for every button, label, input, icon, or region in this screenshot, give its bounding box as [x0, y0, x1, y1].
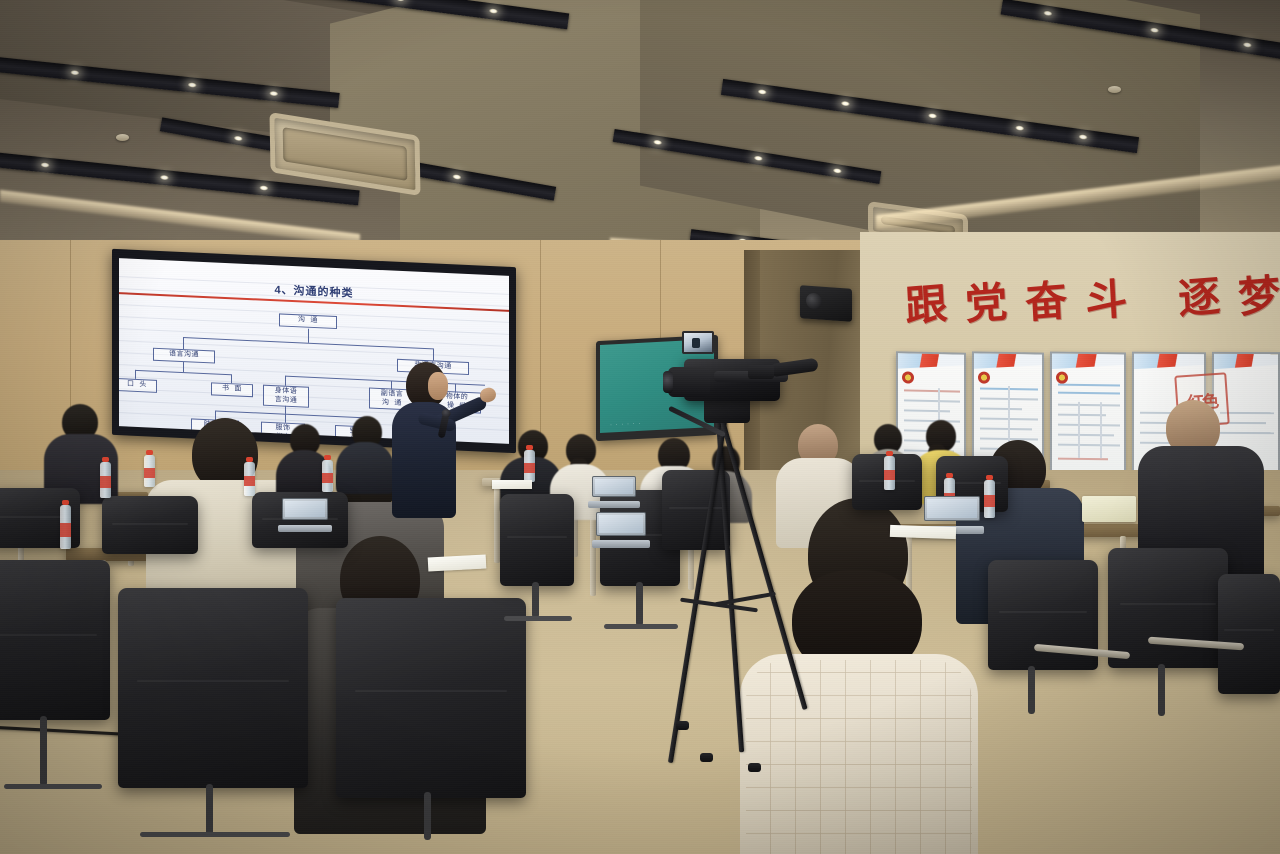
- chair[interactable]: [1108, 548, 1228, 668]
- slide-node-verbal: 语言沟通: [153, 348, 215, 363]
- camcorder-body: [684, 359, 780, 401]
- slide-node-oral: 口 头: [119, 378, 157, 392]
- slide-node-bodylang: 身体语 言沟通: [263, 385, 309, 408]
- water-bottle: [322, 460, 333, 492]
- water-bottle: [984, 480, 995, 518]
- water-bottle: [244, 462, 255, 496]
- camera-live-feed: [684, 333, 712, 352]
- presenter: [384, 362, 470, 518]
- chair[interactable]: [500, 494, 574, 586]
- calligraphy-char: 斗: [1083, 265, 1128, 329]
- tissue-box: [1082, 496, 1136, 522]
- calligraphy-char: 逐: [1176, 262, 1221, 326]
- tripod-spreader: [714, 592, 776, 607]
- water-bottle: [144, 455, 155, 487]
- ceiling: [0, 0, 1280, 268]
- slide-node-written: 书 面: [211, 382, 253, 396]
- calligraphy-char: 党: [963, 268, 1008, 332]
- papers: [890, 525, 956, 539]
- slide-node-root: 沟 通: [279, 313, 337, 328]
- chair-stem: [532, 582, 539, 618]
- video-camera-rig: [660, 335, 840, 854]
- laptop[interactable]: [282, 498, 328, 532]
- chair-base: [140, 832, 290, 837]
- chair-stem: [206, 784, 213, 836]
- shotgun-microphone: [769, 358, 818, 378]
- tripod-foot: [700, 753, 713, 762]
- water-bottle: [884, 456, 895, 490]
- tripod-foot: [676, 721, 689, 730]
- laptop[interactable]: [592, 476, 636, 508]
- smoke-detector-icon: [116, 134, 129, 141]
- calligraphy-char: 跟: [903, 269, 948, 333]
- chair[interactable]: [336, 598, 526, 798]
- water-bottle: [60, 505, 71, 549]
- tripod-foot: [748, 763, 761, 772]
- wall-speaker: [800, 285, 852, 322]
- water-bottle: [100, 462, 111, 498]
- chair[interactable]: [118, 588, 308, 788]
- presenter-face: [428, 372, 448, 400]
- camera-lcd-screen[interactable]: [682, 331, 714, 354]
- smoke-detector-icon: [1108, 86, 1121, 93]
- calligraphy-char: 奋: [1023, 266, 1068, 330]
- laptop[interactable]: [596, 512, 646, 548]
- calligraphy-char: 梦: [1236, 261, 1280, 325]
- chair[interactable]: [102, 496, 198, 554]
- display-brand-label: · · · · · ·: [610, 421, 641, 429]
- chair-stem: [636, 582, 643, 626]
- chair-base: [4, 784, 102, 789]
- speaker-cone-icon: [806, 293, 822, 310]
- camera-lens-icon: [668, 367, 710, 397]
- chair-stem: [1158, 664, 1165, 716]
- wall-calligraphy: 跟 党 奋 斗 逐 梦: [905, 257, 1280, 337]
- camera-viewfinder: [748, 365, 774, 379]
- papers: [492, 480, 532, 489]
- tripod-leg: [716, 421, 744, 753]
- chair-stem: [1028, 666, 1035, 714]
- training-room-photo: 跟 党 奋 斗 逐 梦: [0, 0, 1280, 854]
- chair-stem: [40, 716, 47, 786]
- chair-base: [504, 616, 572, 621]
- water-bottle: [524, 450, 535, 482]
- chair-stem: [424, 792, 431, 840]
- chair[interactable]: [1218, 574, 1280, 694]
- chair[interactable]: [0, 560, 110, 720]
- tripod-leg: [668, 421, 727, 764]
